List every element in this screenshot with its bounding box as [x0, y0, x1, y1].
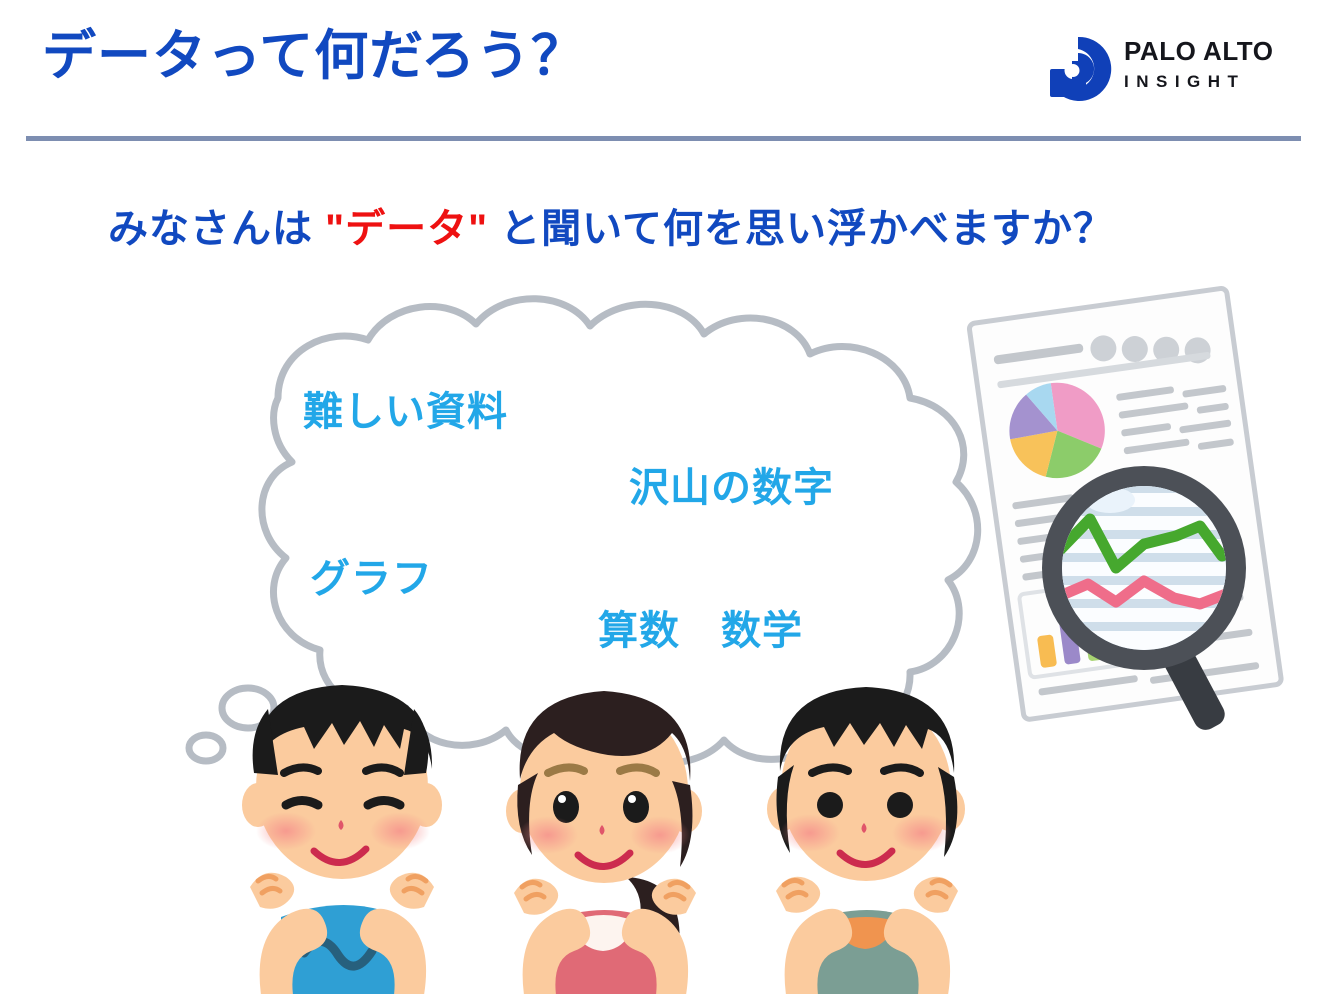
bubble-word-0: 難しい資料	[303, 379, 508, 437]
bubble-word-3: 算数 数学	[598, 598, 803, 656]
page-title: データって何だろう？	[42, 28, 586, 85]
header-divider	[26, 136, 1301, 141]
subtitle-highlight: "データ"	[325, 207, 488, 251]
logo-wordmark: PALO ALTO INSIGHT	[1124, 38, 1294, 90]
subtitle-after: と聞いて何を思い浮かべますか？	[488, 207, 1114, 251]
bubble-word-2: グラフ	[310, 546, 433, 604]
bubble-word-1: 沢山の数字	[629, 455, 834, 513]
subtitle-before: みなさんは	[108, 207, 325, 251]
logo-line-primary: PALO ALTO	[1124, 38, 1294, 64]
brand-logo: PALO ALTO INSIGHT	[1042, 30, 1292, 110]
slide-canvas: データって何だろう？ PALO ALTO INSIGHT みなさんは "データ"…	[0, 0, 1334, 994]
child-middle	[506, 691, 702, 994]
child-right	[767, 687, 965, 994]
children-illustration	[186, 655, 1046, 994]
palo-alto-insight-mark-icon	[1042, 33, 1114, 105]
logo-line-secondary: INSIGHT	[1124, 73, 1294, 90]
child-left	[242, 685, 442, 994]
subtitle: みなさんは "データ" と聞いて何を思い浮かべますか？	[108, 196, 1114, 254]
